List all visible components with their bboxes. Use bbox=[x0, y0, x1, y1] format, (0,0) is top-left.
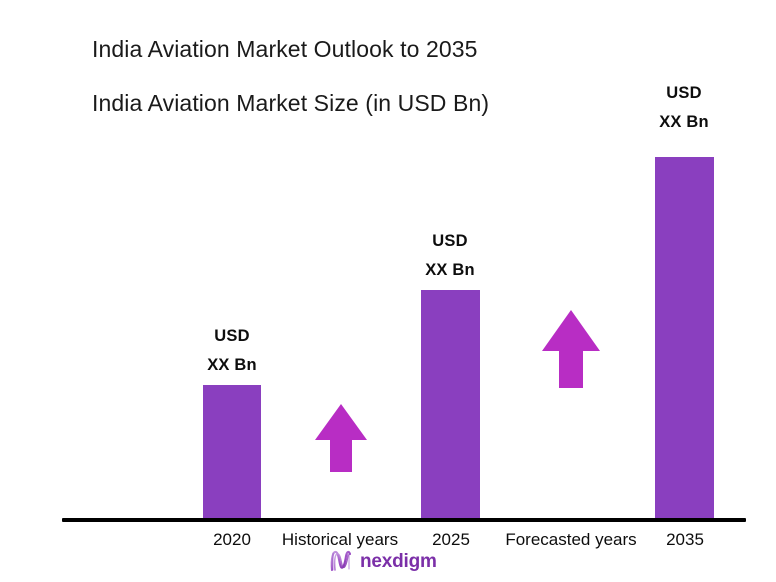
bar-label-2025-line1: USD bbox=[391, 227, 509, 256]
bar-label-2020-line1: USD bbox=[173, 322, 291, 351]
bar-2020[interactable] bbox=[203, 385, 261, 518]
bar-2035[interactable] bbox=[655, 157, 714, 518]
plot-area: USD XX Bn USD XX Bn USD XX Bn bbox=[0, 0, 776, 582]
nexdigm-wave-n-icon bbox=[328, 549, 354, 573]
axis-tick-2035: 2035 bbox=[625, 530, 745, 550]
nexdigm-logo-text: nexdigm bbox=[360, 552, 437, 571]
bar-label-2035-line1: USD bbox=[625, 79, 743, 108]
bar-label-2020-line2: XX Bn bbox=[173, 351, 291, 380]
nexdigm-logo: nexdigm bbox=[328, 549, 437, 573]
bar-label-2025: USD XX Bn bbox=[391, 227, 509, 285]
bar-label-2035-line2: XX Bn bbox=[625, 108, 743, 137]
chart-slide: India Aviation Market Outlook to 2035 In… bbox=[0, 0, 776, 582]
x-axis-line bbox=[62, 518, 746, 522]
historical-growth-arrow-icon bbox=[313, 402, 369, 474]
bar-label-2025-line2: XX Bn bbox=[391, 256, 509, 285]
bar-2025[interactable] bbox=[421, 290, 480, 518]
forecast-growth-arrow-icon bbox=[540, 308, 602, 390]
bar-label-2035: USD XX Bn bbox=[625, 79, 743, 137]
bar-label-2020: USD XX Bn bbox=[173, 322, 291, 380]
